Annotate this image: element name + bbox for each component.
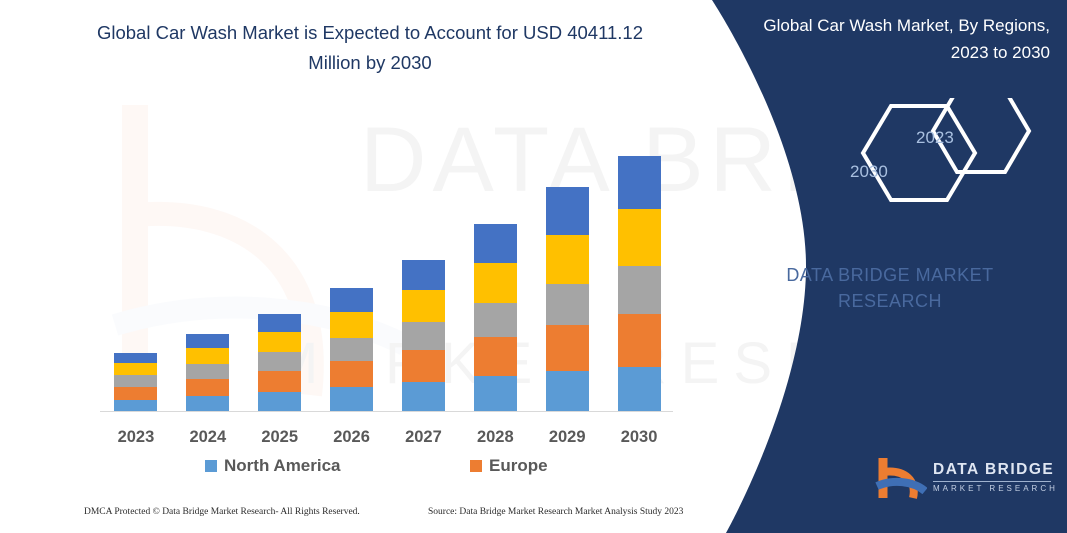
x-label-2023: 2023: [100, 428, 172, 447]
panel-brand: DATA BRIDGE MARKET RESEARCH: [730, 262, 1050, 314]
bar-segment: [186, 334, 229, 348]
bar-segment: [474, 224, 517, 263]
bar-segment: [402, 290, 445, 322]
dbmr-logo-top: DATA BRIDGE: [933, 461, 1058, 479]
footer-dmca-text: DMCA Protected © Data Bridge Market Rese…: [84, 507, 360, 517]
bar-segment: [402, 260, 445, 290]
stacked-bar-plot: [100, 120, 675, 412]
chart-legend: North AmericaEurope: [100, 456, 675, 480]
bar-segment: [474, 263, 517, 303]
bar-segment: [114, 353, 157, 363]
bar-segment: [546, 371, 589, 412]
bar-segment: [546, 284, 589, 325]
panel-brand-line-2: RESEARCH: [730, 288, 1050, 314]
hexagon-label-2023: 2023: [916, 128, 954, 148]
dbmr-logo-rule: [933, 481, 1051, 482]
dbmr-logo-text: DATA BRIDGE MARKET RESEARCH: [933, 461, 1058, 493]
bar-segment: [258, 332, 301, 352]
footer: DMCA Protected © Data Bridge Market Rese…: [0, 507, 700, 527]
bar-segment: [330, 338, 373, 361]
bar-2030[interactable]: [618, 156, 661, 412]
bar-2024[interactable]: [186, 334, 229, 412]
x-label-2026: 2026: [316, 428, 388, 447]
bar-segment: [618, 314, 661, 367]
x-label-2024: 2024: [172, 428, 244, 447]
bar-segment: [114, 375, 157, 387]
bar-segment: [618, 209, 661, 266]
x-label-2029: 2029: [531, 428, 603, 447]
chart-title: Global Car Wash Market is Expected to Ac…: [70, 18, 670, 78]
bar-segment: [114, 363, 157, 375]
bar-2029[interactable]: [546, 187, 589, 412]
bar-segment: [258, 371, 301, 392]
x-axis-labels: 20232024202520262027202820292030: [100, 428, 673, 452]
bar-segment: [330, 387, 373, 412]
x-label-2030: 2030: [603, 428, 675, 447]
bar-segment: [618, 266, 661, 314]
bar-segment: [258, 352, 301, 371]
bar-segment: [402, 350, 445, 382]
bar-segment: [330, 361, 373, 387]
bar-segment: [546, 187, 589, 235]
x-label-2027: 2027: [387, 428, 459, 447]
bar-segment: [114, 387, 157, 400]
panel-title: Global Car Wash Market, By Regions, 2023…: [730, 12, 1050, 66]
bar-2023[interactable]: [114, 353, 157, 412]
legend-item-europe[interactable]: Europe: [470, 456, 548, 476]
legend-label: Europe: [489, 456, 548, 476]
bar-segment: [186, 396, 229, 412]
legend-swatch: [205, 460, 217, 472]
bar-segment: [474, 376, 517, 412]
bar-2026[interactable]: [330, 288, 373, 412]
bar-segment: [258, 392, 301, 412]
dbmr-logo: DATA BRIDGE MARKET RESEARCH: [875, 455, 1065, 503]
bar-2028[interactable]: [474, 224, 517, 412]
legend-label: North America: [224, 456, 341, 476]
bar-segment: [402, 382, 445, 412]
bar-segment: [330, 312, 373, 338]
footer-source-text: Source: Data Bridge Market Research Mark…: [428, 507, 683, 517]
dbmr-logo-mark-icon: [875, 455, 927, 501]
dbmr-logo-bottom: MARKET RESEARCH: [933, 484, 1058, 493]
bar-segment: [402, 322, 445, 350]
panel-brand-line-1: DATA BRIDGE MARKET: [730, 262, 1050, 288]
bar-segment: [474, 303, 517, 337]
legend-item-north-america[interactable]: North America: [205, 456, 341, 476]
bar-segment: [258, 314, 301, 332]
x-label-2025: 2025: [244, 428, 316, 447]
bar-segment: [186, 379, 229, 396]
bar-segment: [186, 364, 229, 379]
bar-segment: [618, 156, 661, 209]
panel-content: Global Car Wash Market, By Regions, 2023…: [730, 0, 1067, 533]
bar-segment: [474, 337, 517, 376]
x-label-2028: 2028: [459, 428, 531, 447]
hexagon-label-2030: 2030: [850, 162, 888, 182]
bar-segment: [546, 235, 589, 284]
infographic-root: DATA BRIDGE MARKET RESEARCH Global Car W…: [0, 0, 1067, 533]
hexagon-2030-shape: [863, 106, 975, 200]
bar-2025[interactable]: [258, 314, 301, 412]
hexagon-group: [805, 98, 1055, 208]
x-axis-line: [100, 411, 673, 412]
bar-segment: [546, 325, 589, 371]
bar-segment: [618, 367, 661, 412]
bar-segment: [330, 288, 373, 312]
bar-segment: [186, 348, 229, 364]
bar-2027[interactable]: [402, 260, 445, 412]
legend-swatch: [470, 460, 482, 472]
